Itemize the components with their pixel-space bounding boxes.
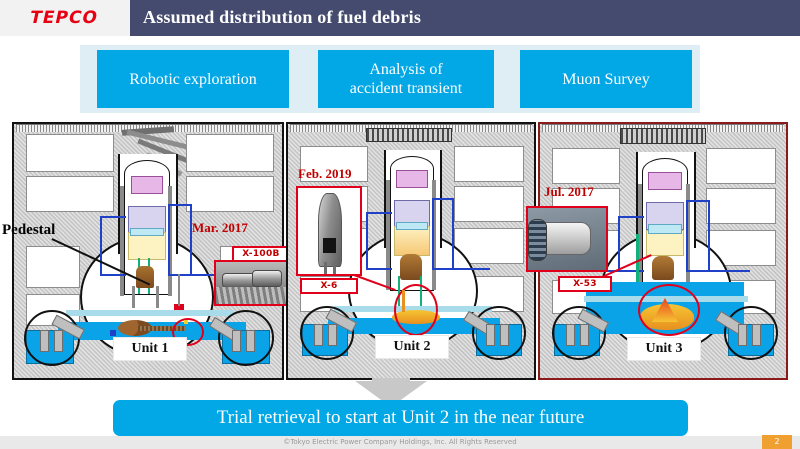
unit-3-date-label: Jul. 2017	[544, 184, 594, 200]
recirculation-pipe	[168, 204, 170, 276]
core-region	[394, 226, 430, 256]
category-box-accident-transient[interactable]: Analysis of accident transient	[318, 50, 494, 108]
downcomer-right	[232, 330, 241, 352]
recirculation-pipe	[100, 216, 102, 276]
suppression-chamber-right	[472, 306, 526, 360]
downcomer-right	[500, 324, 509, 346]
copyright-text: ©Tokyo Electric Power Company Holdings, …	[0, 436, 800, 449]
building-room	[552, 148, 620, 184]
rpv-support-column	[120, 186, 124, 296]
recirculation-pipe	[366, 212, 392, 214]
unit-2-penetration-label[interactable]: X-6	[300, 278, 358, 294]
unit-2-robot-photo[interactable]	[296, 186, 362, 276]
downcomer-left	[40, 330, 49, 352]
unit-3-robot-photo[interactable]	[526, 206, 608, 272]
slide-header: TEPCO Assumed distribution of fuel debri…	[0, 0, 800, 36]
downcomer-left	[566, 324, 575, 346]
recirculation-pipe	[432, 198, 434, 270]
refueling-crane	[620, 128, 706, 144]
building-room	[706, 188, 776, 224]
rpv-support-column	[386, 180, 390, 290]
conclusion-text: Trial retrieval to start at Unit 2 in th…	[217, 407, 585, 429]
unit-1-label: Unit 1	[114, 338, 186, 360]
debris-highlight-circle	[394, 284, 438, 336]
downcomer-left	[328, 324, 337, 346]
category-label: Analysis of accident transient	[350, 60, 462, 98]
unit-3-penetration-label[interactable]: X-53	[558, 276, 612, 292]
tepco-logo-text: TEPCO	[28, 10, 99, 27]
core-support-plate	[396, 222, 428, 230]
building-room	[26, 176, 114, 212]
recirculation-pipe	[686, 200, 710, 202]
pedestal-structure	[132, 286, 135, 308]
refueling-crane	[366, 128, 452, 142]
tepco-logo: TEPCO	[30, 10, 98, 27]
category-label: Muon Survey	[562, 70, 650, 89]
instrument-rod	[178, 274, 180, 306]
downcomer-left	[314, 324, 323, 346]
recirculation-pipe	[432, 198, 454, 200]
debris-highlight-circle	[638, 284, 700, 336]
debris-marker	[184, 320, 188, 324]
downcomer-right	[752, 324, 761, 346]
downcomer-right	[486, 324, 495, 346]
building-room	[454, 146, 524, 182]
building-room	[706, 148, 776, 184]
downcomer-right	[738, 324, 747, 346]
photo-content	[298, 188, 360, 274]
fuel-debris-in-rpv	[400, 254, 422, 280]
photo-content	[528, 208, 606, 270]
category-box-robotic-exploration[interactable]: Robotic exploration	[97, 50, 289, 108]
page-title: Assumed distribution of fuel debris	[143, 7, 421, 28]
building-room	[186, 176, 274, 212]
slide: TEPCO Assumed distribution of fuel debri…	[0, 0, 800, 449]
recirculation-pipe	[168, 204, 192, 206]
unit-3-panel[interactable]: Jul. 2017 X-53 Unit 3	[538, 122, 788, 380]
building-room	[26, 246, 80, 288]
unit-1-date-label: Mar. 2017	[192, 220, 248, 236]
photo-content	[216, 262, 286, 304]
recirculation-pipe	[100, 274, 126, 276]
unit-1-robot-photo[interactable]	[214, 260, 288, 306]
fuel-debris-in-rpv	[652, 256, 674, 280]
unit-panels: Mar. 2017 X-100B Unit 1	[12, 122, 788, 380]
unit-2-date-label: Feb. 2019	[298, 166, 351, 182]
category-label: Robotic exploration	[129, 70, 257, 89]
conclusion-banner: Trial retrieval to start at Unit 2 in th…	[113, 400, 688, 436]
core-region	[128, 232, 166, 260]
recirculation-pipe	[100, 216, 126, 218]
pedestal-structure	[156, 286, 159, 308]
building-room	[186, 134, 274, 172]
unit-1-panel[interactable]: Mar. 2017 X-100B Unit 1	[12, 122, 284, 380]
downcomer-right	[246, 330, 255, 352]
rpv-head-internals	[648, 172, 682, 190]
suppression-chamber-right	[724, 306, 778, 360]
recirculation-pipe	[618, 216, 620, 272]
pedestal-floor	[66, 310, 234, 316]
recirculation-pipe	[366, 268, 392, 270]
recirculation-pipe	[452, 198, 454, 270]
core-support-plate	[648, 224, 682, 234]
recirculation-pipe	[686, 200, 688, 272]
unit-2-panel[interactable]: Feb. 2019 X-6 Unit 2	[286, 122, 536, 380]
debris-marker-blue	[110, 330, 116, 336]
debris-marker	[402, 290, 405, 312]
pedestal-callout-label: Pedestal	[2, 222, 55, 239]
recirculation-pipe	[190, 204, 192, 276]
downcomer-left	[54, 330, 63, 352]
recirculation-pipe	[618, 216, 644, 218]
downcomer-left	[580, 324, 589, 346]
building-room	[454, 186, 524, 222]
rpv-head-internals	[396, 170, 428, 188]
recirculation-pipe	[688, 270, 750, 272]
category-box-muon-survey[interactable]: Muon Survey	[520, 50, 692, 108]
building-room	[26, 134, 114, 172]
page-number-badge: 2	[762, 435, 792, 449]
core-support-plate	[130, 228, 164, 236]
recirculation-pipe	[434, 268, 490, 270]
suppression-chamber-left	[24, 310, 80, 366]
recirculation-pipe	[708, 200, 710, 272]
fuel-debris-in-rpv	[136, 266, 154, 288]
unit-3-label: Unit 3	[628, 338, 700, 360]
rpv-head-internals	[131, 176, 163, 194]
unit-2-label: Unit 2	[376, 336, 448, 358]
recirculation-pipe	[366, 212, 368, 270]
